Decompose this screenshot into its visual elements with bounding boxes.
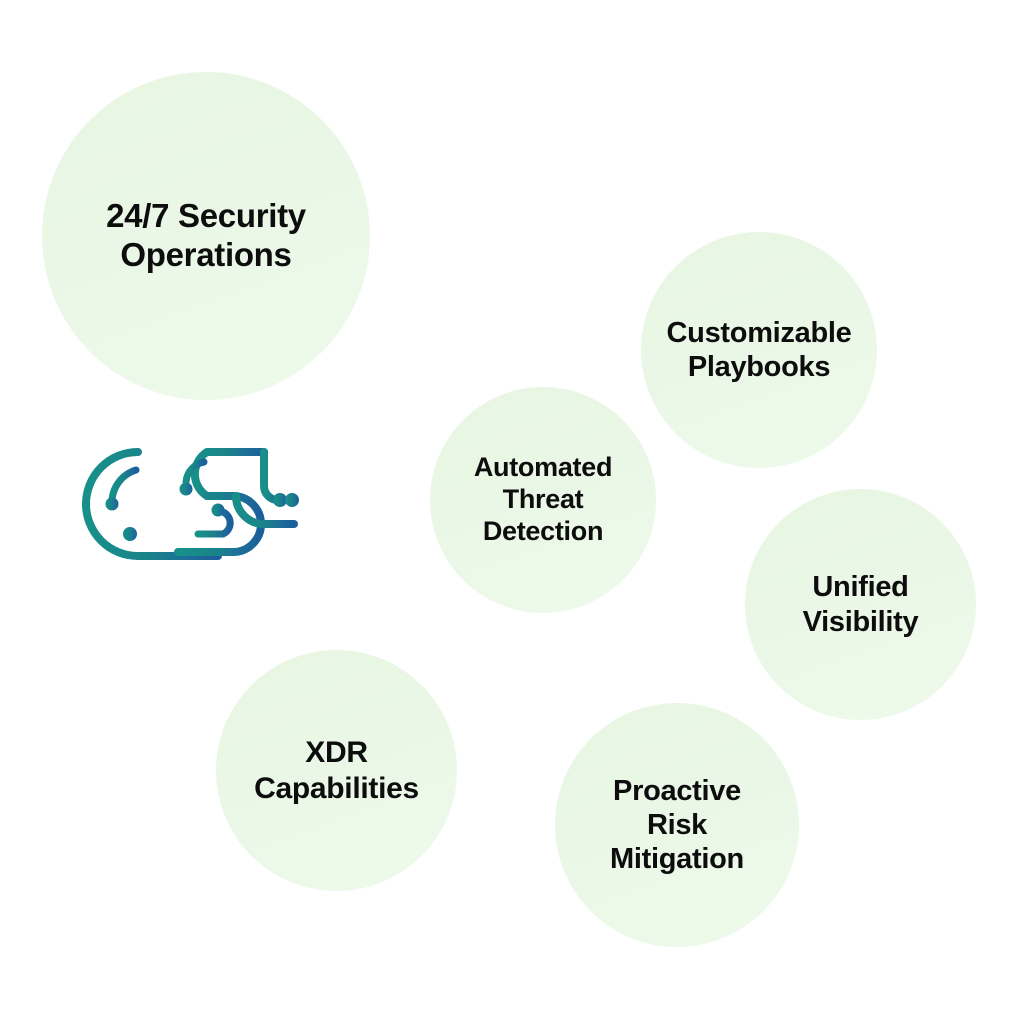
bubble-threat-detection-label: Automated Threat Detection — [468, 452, 618, 548]
bubble-risk-mitigation[interactable]: Proactive Risk Mitigation — [555, 703, 799, 947]
infographic-canvas: 24/7 Security Operations Customizable Pl… — [0, 0, 1024, 1024]
bubble-unified-visibility-label: Unified Visibility — [797, 570, 925, 638]
cs4-logo-mark — [68, 440, 318, 568]
bubble-security-ops[interactable]: 24/7 Security Operations — [42, 72, 370, 400]
bubble-risk-mitigation-label: Proactive Risk Mitigation — [604, 774, 750, 877]
cs4-logo — [68, 440, 318, 568]
bubble-playbooks-label: Customizable Playbooks — [661, 316, 858, 384]
bubble-xdr[interactable]: XDR Capabilities — [216, 650, 457, 891]
bubble-threat-detection[interactable]: Automated Threat Detection — [430, 387, 656, 613]
bubble-unified-visibility[interactable]: Unified Visibility — [745, 489, 976, 720]
bubble-xdr-label: XDR Capabilities — [248, 735, 425, 806]
bubble-security-ops-label: 24/7 Security Operations — [100, 197, 312, 275]
bubble-playbooks[interactable]: Customizable Playbooks — [641, 232, 877, 468]
